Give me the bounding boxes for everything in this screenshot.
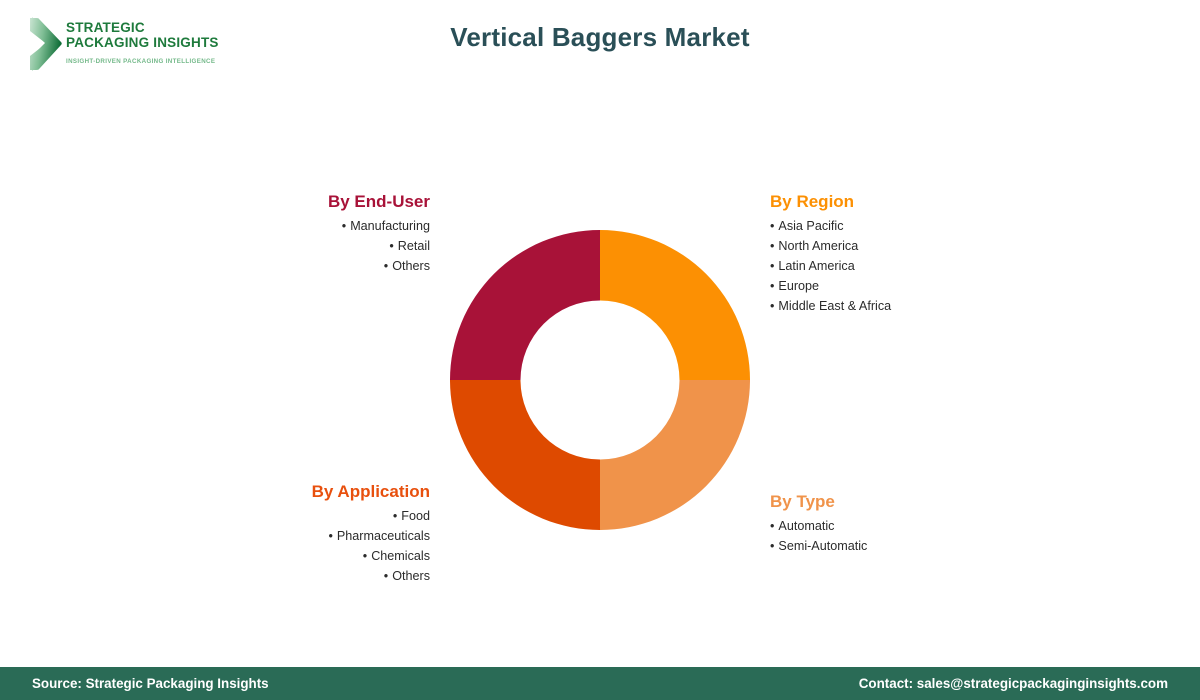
list-item-label: Others bbox=[392, 569, 430, 583]
list-item: •Europe bbox=[770, 276, 1070, 296]
bullet-icon: • bbox=[770, 519, 774, 533]
donut-slice-type bbox=[600, 380, 750, 530]
list-item: •Food bbox=[170, 506, 430, 526]
segment-heading-application: By Application bbox=[170, 482, 430, 502]
list-item-label: Food bbox=[401, 509, 430, 523]
bullet-icon: • bbox=[770, 239, 774, 253]
footer-source: Source: Strategic Packaging Insights bbox=[32, 676, 269, 691]
list-item-label: Semi-Automatic bbox=[778, 539, 867, 553]
list-item: •Manufacturing bbox=[190, 216, 430, 236]
list-item: •Asia Pacific bbox=[770, 216, 1070, 236]
list-item: •Others bbox=[190, 256, 430, 276]
bullet-icon: • bbox=[384, 259, 388, 273]
donut-slice-end-user bbox=[450, 230, 600, 380]
footer-contact: Contact: sales@strategicpackaginginsight… bbox=[859, 676, 1168, 691]
bullet-icon: • bbox=[770, 259, 774, 273]
list-item-label: Chemicals bbox=[371, 549, 430, 563]
page-title: Vertical Baggers Market bbox=[0, 22, 1200, 53]
list-item: •Retail bbox=[190, 236, 430, 256]
bullet-icon: • bbox=[328, 529, 332, 543]
segment-list-application: •Food •Pharmaceuticals •Chemicals •Other… bbox=[170, 506, 430, 586]
list-item-label: Middle East & Africa bbox=[778, 299, 891, 313]
donut-slice-region bbox=[600, 230, 750, 380]
list-item: •North America bbox=[770, 236, 1070, 256]
list-item-label: Europe bbox=[778, 279, 819, 293]
list-item: •Automatic bbox=[770, 516, 1050, 536]
list-item-label: Automatic bbox=[778, 519, 834, 533]
bullet-icon: • bbox=[342, 219, 346, 233]
segment-list-region: •Asia Pacific •North America •Latin Amer… bbox=[770, 216, 1070, 316]
segment-list-type: •Automatic •Semi-Automatic bbox=[770, 516, 1050, 556]
bullet-icon: • bbox=[363, 549, 367, 563]
list-item: •Latin America bbox=[770, 256, 1070, 276]
segment-list-end-user: •Manufacturing •Retail •Others bbox=[190, 216, 430, 276]
segment-callout-type: By Type •Automatic •Semi-Automatic bbox=[770, 492, 1050, 556]
segment-callout-end-user: By End-User •Manufacturing •Retail •Othe… bbox=[190, 192, 430, 276]
segment-heading-type: By Type bbox=[770, 492, 1050, 512]
bullet-icon: • bbox=[384, 569, 388, 583]
segment-heading-region: By Region bbox=[770, 192, 1070, 212]
segment-callout-application: By Application •Food •Pharmaceuticals •C… bbox=[170, 482, 430, 586]
donut-slice-application bbox=[450, 380, 600, 530]
bullet-icon: • bbox=[770, 219, 774, 233]
list-item-label: Manufacturing bbox=[350, 219, 430, 233]
bullet-icon: • bbox=[770, 299, 774, 313]
list-item: •Middle East & Africa bbox=[770, 296, 1070, 316]
list-item: •Semi-Automatic bbox=[770, 536, 1050, 556]
list-item-label: Latin America bbox=[778, 259, 854, 273]
bullet-icon: • bbox=[393, 509, 397, 523]
donut-chart bbox=[450, 230, 750, 530]
list-item-label: North America bbox=[778, 239, 858, 253]
list-item-label: Retail bbox=[398, 239, 430, 253]
list-item-label: Pharmaceuticals bbox=[337, 529, 430, 543]
brand-tagline: INSIGHT-DRIVEN PACKAGING INTELLIGENCE bbox=[66, 58, 216, 65]
list-item: •Others bbox=[170, 566, 430, 586]
segment-heading-end-user: By End-User bbox=[190, 192, 430, 212]
list-item-label: Others bbox=[392, 259, 430, 273]
list-item-label: Asia Pacific bbox=[778, 219, 843, 233]
bullet-icon: • bbox=[770, 279, 774, 293]
footer-bar: Source: Strategic Packaging Insights Con… bbox=[0, 667, 1200, 700]
segment-callout-region: By Region •Asia Pacific •North America •… bbox=[770, 192, 1070, 316]
list-item: •Chemicals bbox=[170, 546, 430, 566]
bullet-icon: • bbox=[770, 539, 774, 553]
bullet-icon: • bbox=[389, 239, 393, 253]
list-item: •Pharmaceuticals bbox=[170, 526, 430, 546]
